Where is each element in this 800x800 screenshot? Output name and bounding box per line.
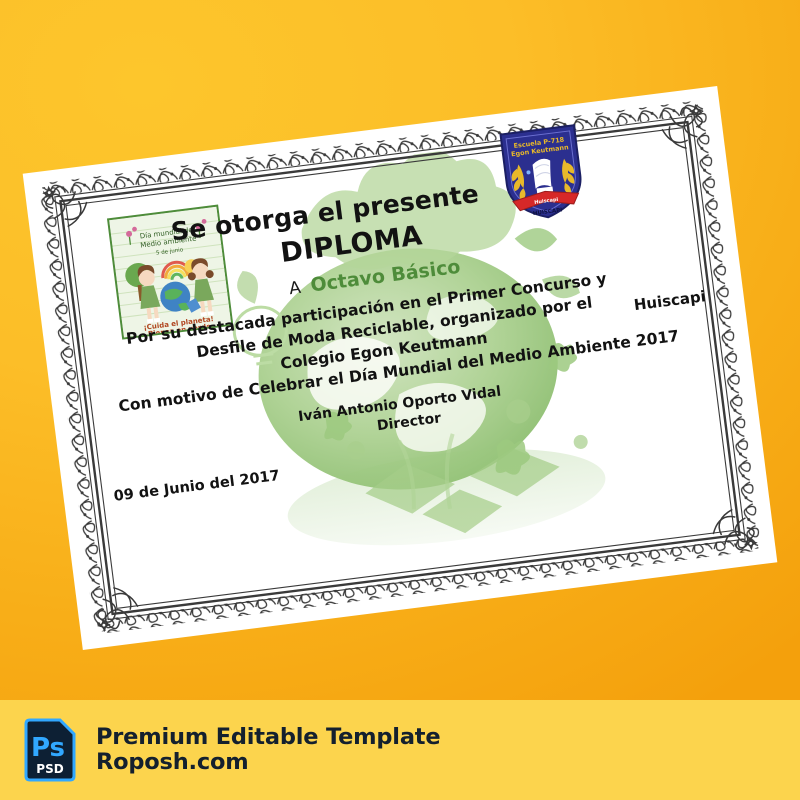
certificate-preview[interactable]: Día mundial del Medio ambiente 5 de juni…: [23, 86, 778, 650]
footer-line-2[interactable]: Roposh.com: [96, 750, 440, 775]
footer-line-1: Premium Editable Template: [96, 725, 440, 750]
psd-icon-sublabel: PSD: [36, 762, 63, 776]
photoshop-psd-icon: Ps PSD: [22, 718, 78, 782]
certificate-date: 09 de Junio del 2017: [113, 468, 281, 505]
footer-text-block: Premium Editable Template Roposh.com: [96, 725, 440, 775]
ps-icon-label: Ps: [31, 733, 65, 763]
recipient-prefix: A: [288, 278, 302, 299]
certificate-paper: Día mundial del Medio ambiente 5 de juni…: [23, 86, 778, 650]
certificate-place: Huiscapi: [633, 287, 707, 314]
footer-branding-bar: Ps PSD Premium Editable Template Roposh.…: [0, 700, 800, 800]
school-crest: Escuela P-718 Egon Keutmann Huiscapi: [494, 121, 591, 227]
